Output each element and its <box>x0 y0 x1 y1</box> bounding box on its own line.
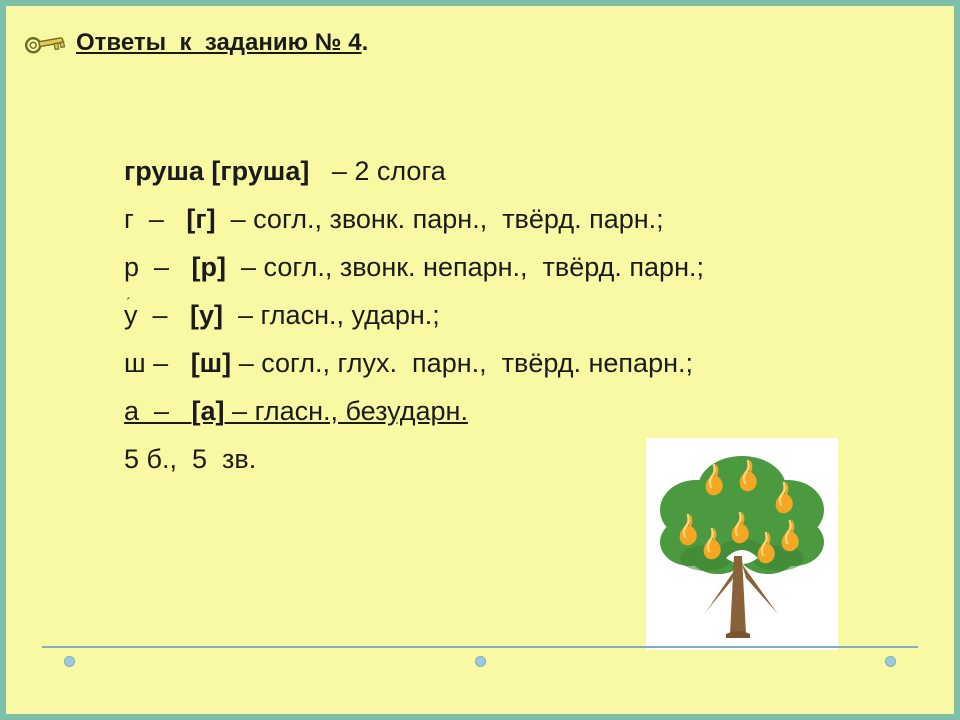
slide-inner: Ответы к заданию № 4. груша [груша] – 2 … <box>6 6 954 714</box>
footer-dot-center <box>475 656 486 667</box>
word-rest: – 2 слога <box>309 156 445 186</box>
a-rest: – гласн., безударн. <box>225 396 468 426</box>
header: Ответы к заданию № 4. <box>24 30 368 56</box>
page-title-underlined: Ответы к заданию № 4 <box>76 29 362 56</box>
u-pre: у – <box>124 300 190 330</box>
sh-pre: ш – <box>124 348 191 378</box>
analysis-line-r: р – [р] – согл., звонк. непарн., твёрд. … <box>124 254 944 287</box>
analysis-line-a-wrap: а – [а] – гласн., безударн. <box>124 398 944 431</box>
word-bold: груша [груша] <box>124 156 309 186</box>
u-rest: – гласн., ударн.; <box>223 300 440 330</box>
analysis-line-a: а – [а] – гласн., безударн. <box>124 398 468 431</box>
a-pre: а – <box>124 396 192 426</box>
sh-sound: [ш] <box>191 348 232 378</box>
footer-dot-right <box>885 656 896 667</box>
u-sound: [у] <box>190 300 223 330</box>
g-rest: – согл., звонк. парн., твёрд. парн.; <box>216 204 664 234</box>
pear-tree-illustration <box>646 438 838 650</box>
g-pre: г – <box>124 204 186 234</box>
sh-rest: – согл., глух. парн., твёрд. непарн.; <box>231 348 693 378</box>
footer-divider <box>42 646 918 648</box>
g-sound: [г] <box>186 204 215 234</box>
footer <box>42 646 918 676</box>
slide: Ответы к заданию № 4. груша [груша] – 2 … <box>0 0 960 720</box>
page-title-period: . <box>362 29 369 56</box>
count-text: 5 б., 5 зв. <box>124 444 256 474</box>
r-sound: [р] <box>192 252 226 282</box>
key-icon <box>24 30 68 56</box>
analysis-line-word: груша [груша] – 2 слога <box>124 158 944 191</box>
r-pre: р – <box>124 252 192 282</box>
analysis-line-sh: ш – [ш] – согл., глух. парн., твёрд. неп… <box>124 350 944 383</box>
a-sound: [а] <box>192 396 225 426</box>
analysis-line-u: у – [у] – гласн., ударн.; <box>124 302 944 335</box>
analysis-line-g: г – [г] – согл., звонк. парн., твёрд. па… <box>124 206 944 239</box>
r-rest: – согл., звонк. непарн., твёрд. парн.; <box>226 252 704 282</box>
footer-dot-left <box>64 656 75 667</box>
page-title: Ответы к заданию № 4. <box>76 31 368 55</box>
